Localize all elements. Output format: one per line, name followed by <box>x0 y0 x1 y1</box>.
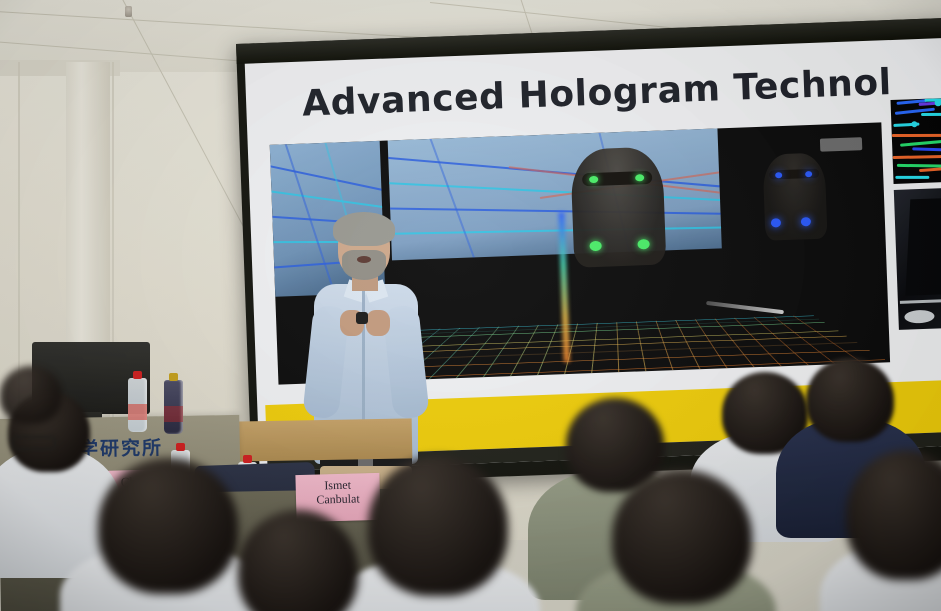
sprinkler-head <box>125 6 132 17</box>
slide-panel-lab-equipment <box>894 188 941 330</box>
presentation-clicker <box>356 312 368 324</box>
wood-desk-panel <box>232 418 413 461</box>
nameplate-ismet-line2: Canbulat <box>296 492 380 508</box>
presenter-beard <box>342 250 386 280</box>
attendee-head-f2 <box>368 456 508 596</box>
slide-title: Advanced Hologram Technol <box>301 62 892 125</box>
attendee-glasses-icon <box>12 436 56 450</box>
attendee-head-r2 <box>806 358 894 442</box>
pointer-rod <box>706 301 784 314</box>
water-bottle-2 <box>164 380 183 434</box>
presenter-mouth <box>357 256 371 263</box>
attendee-head-f3 <box>612 470 752 604</box>
slide-panel-blue-wireframe-wide <box>388 128 722 260</box>
slide-panel-lidar-streaks <box>890 98 941 184</box>
presenter-hand-right <box>366 310 390 336</box>
vr-user-figure <box>570 146 666 267</box>
water-bottle-1 <box>128 378 147 432</box>
lecture-hall-photo: Advanced Hologram Technol <box>0 0 941 611</box>
vr-user-figure-2 <box>762 153 827 241</box>
attendee-head-f1 <box>98 458 238 594</box>
presenter-hair <box>333 212 395 246</box>
attendee-head-l2 <box>0 366 62 424</box>
slide-watermark <box>820 137 862 152</box>
